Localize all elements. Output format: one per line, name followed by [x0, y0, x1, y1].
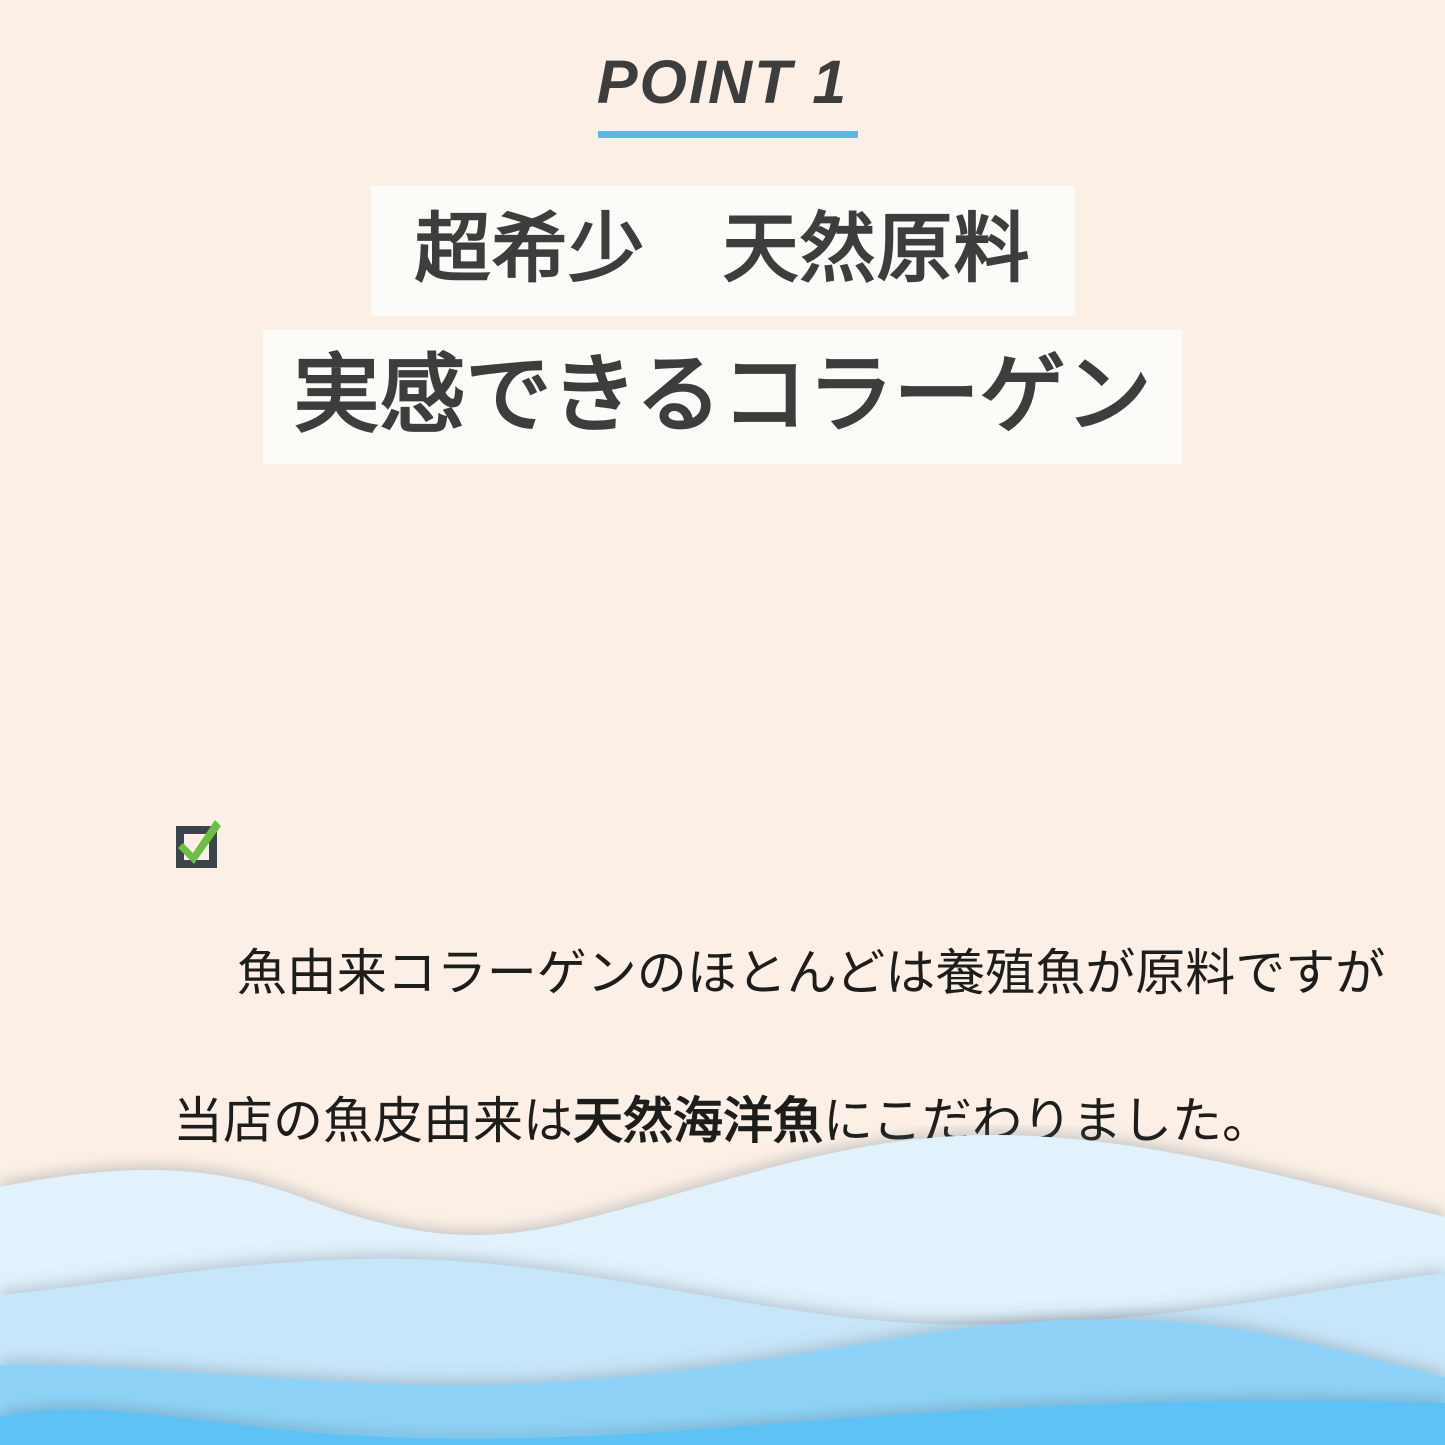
wave-decoration [0, 1125, 1445, 1445]
headline-block: 超希少 天然原料 実感できるコラーゲン [0, 186, 1445, 464]
headline-line-1: 超希少 天然原料 [371, 186, 1075, 316]
checkbox-checked-icon [171, 670, 221, 720]
bullet-item-1: 魚由来コラーゲンのほとんどは養殖魚が原料ですが 当店の魚皮由来は天然海洋魚にこだ… [0, 596, 1445, 1158]
bullet-1-line-1-row: 魚由来コラーゲンのほとんどは養殖魚が原料ですが [0, 596, 1445, 1084]
point-heading: POINT 1 [0, 52, 1445, 113]
point-underline-rule [598, 131, 858, 138]
headline-row-2: 実感できるコラーゲン [0, 330, 1445, 464]
headline-row-1: 超希少 天然原料 [0, 186, 1445, 316]
bullet-1-line-1: 魚由来コラーゲンのほとんどは養殖魚が原料ですが [237, 945, 1386, 1001]
headline-line-2: 実感できるコラーゲン [263, 330, 1181, 464]
point-label: POINT 1 [597, 52, 848, 113]
poster-canvas: POINT 1 超希少 天然原料 実感できるコラーゲン 魚由来コラーゲンのほとん… [0, 0, 1445, 1445]
